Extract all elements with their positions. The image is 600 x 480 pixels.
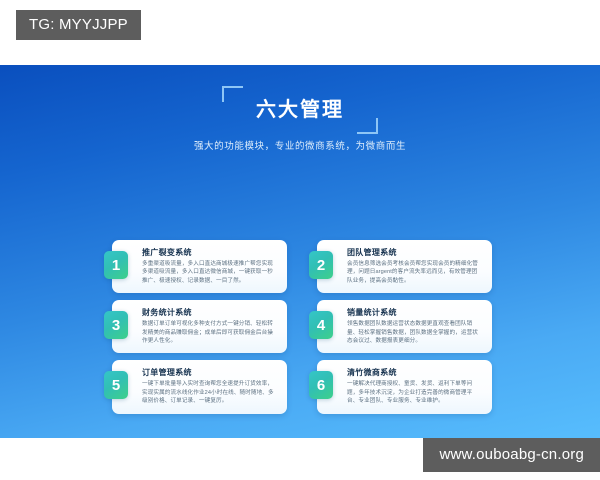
card-number-badge: 4 bbox=[309, 311, 333, 339]
card-title: 销量统计系统 bbox=[347, 307, 483, 318]
corner-bracket-bottom-right-icon bbox=[357, 118, 378, 134]
card-number-badge: 5 bbox=[104, 371, 128, 399]
card-number-badge: 2 bbox=[309, 251, 333, 279]
card-title: 推广裂变系统 bbox=[142, 247, 278, 258]
feature-card[interactable]: 4 销量统计系统 领售数据团队数据运营状态数据更直观查看团队销量、轻松掌握销售数… bbox=[317, 300, 492, 353]
card-title: 清竹微商系统 bbox=[347, 367, 483, 378]
banner-subtitle: 强大的功能模块，专业的微商系统，为微商而生 bbox=[0, 140, 600, 154]
card-number-badge: 3 bbox=[104, 311, 128, 339]
card-number-badge: 1 bbox=[104, 251, 128, 279]
promo-banner: 六大管理 强大的功能模块，专业的微商系统，为微商而生 1 推广裂变系统 多重渠道… bbox=[0, 65, 600, 438]
card-title: 订单管理系统 bbox=[142, 367, 278, 378]
card-title: 团队管理系统 bbox=[347, 247, 483, 258]
feature-card[interactable]: 6 清竹微商系统 一键解决代理商授权、童货、发货、返利下单等问题，多年技术沉淀，… bbox=[317, 360, 492, 413]
card-description: 一键下单批量导入实时查询帮您全速提升订货效率，实现实属的流水线化作业24小时在线… bbox=[142, 380, 278, 405]
banner-header: 六大管理 强大的功能模块，专业的微商系统，为微商而生 bbox=[0, 65, 600, 154]
card-title: 财务统计系统 bbox=[142, 307, 278, 318]
watermark-bottom-right: www.ouboabg-cn.org bbox=[423, 438, 600, 472]
title-row: 六大管理 bbox=[222, 97, 378, 123]
watermark-top-left: TG: MYYJJPP bbox=[16, 10, 141, 40]
corner-bracket-top-left-icon bbox=[222, 86, 243, 102]
card-number-badge: 6 bbox=[309, 371, 333, 399]
card-description: 一键解决代理商授权、童货、发货、返利下单等问题，多年技术沉淀，为企业打造完善的微… bbox=[347, 380, 483, 405]
page-title: 六大管理 bbox=[256, 97, 344, 123]
feature-card[interactable]: 5 订单管理系统 一键下单批量导入实时查询帮您全速提升订货效率，实现实属的流水线… bbox=[112, 360, 287, 413]
feature-card-grid: 1 推广裂变系统 多重渠道吸流量，多入口直达商城极速推广帮您实现多渠道吸流量，多… bbox=[112, 240, 492, 414]
card-description: 领售数据团队数据运营状态数据更直观查看团队销量、轻松掌握销售数据，团队数据全掌握… bbox=[347, 320, 483, 345]
feature-card[interactable]: 2 团队管理系统 会员信息筛选会员考核会员帮您实现会员的精细化管理，问题日arg… bbox=[317, 240, 492, 293]
card-description: 会员信息筛选会员考核会员帮您实现会员的精细化管理，问题日argent的客户流失率… bbox=[347, 260, 483, 285]
feature-card[interactable]: 1 推广裂变系统 多重渠道吸流量，多入口直达商城极速推广帮您实现多渠道吸流量，多… bbox=[112, 240, 287, 293]
feature-card[interactable]: 3 财务统计系统 数据订单订单可视化多种支付方式一键分销、轻松转发精美的商品赚取… bbox=[112, 300, 287, 353]
card-description: 多重渠道吸流量，多入口直达商城极速推广帮您实现多渠道吸流量，多入口直达微信商城，… bbox=[142, 260, 278, 285]
card-description: 数据订单订单可视化多种支付方式一键分销、轻松转发精美的商品赚取佣金；成单后即可获… bbox=[142, 320, 278, 345]
